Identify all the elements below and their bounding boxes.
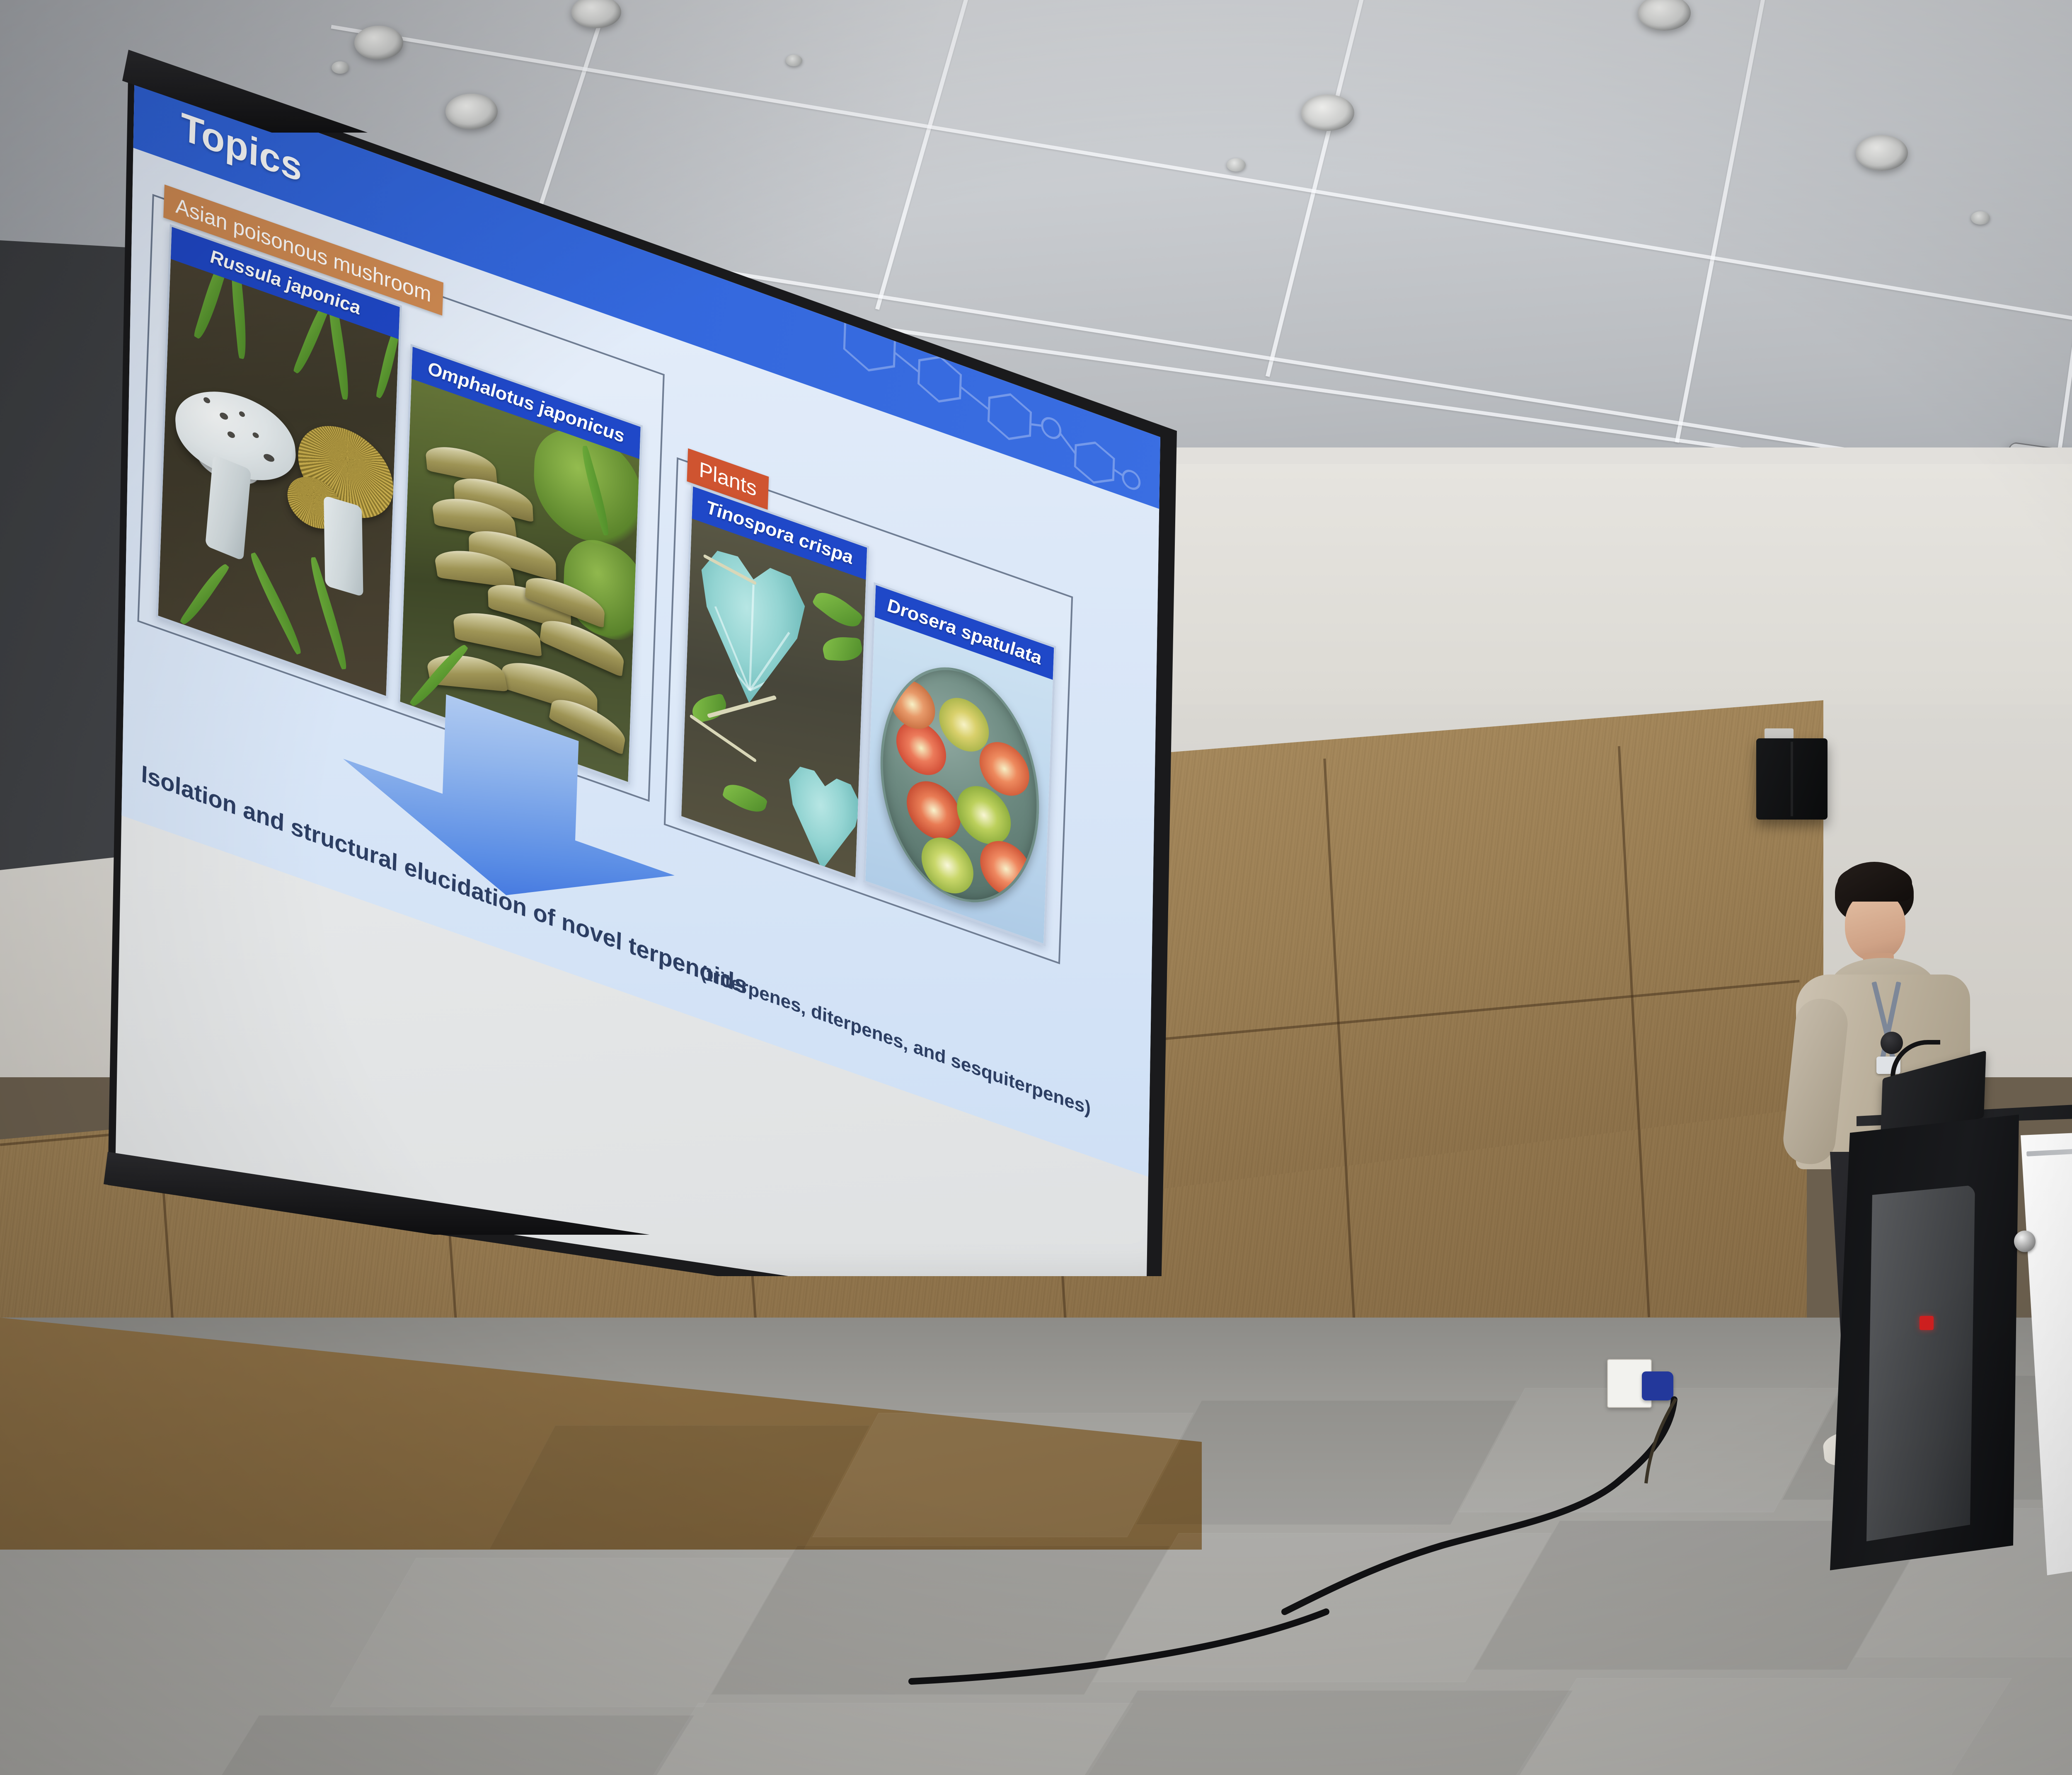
sundew-rosette (921, 830, 974, 901)
photo-card-tinospora: Tinospora crispa (679, 484, 869, 880)
presenter-hair-fringe (1837, 864, 1912, 902)
presenter-face (1845, 892, 1905, 961)
sprinkler-head (1227, 158, 1246, 172)
leaf-vein (714, 606, 751, 690)
microphone-head (1881, 1032, 1903, 1054)
plant-stem (690, 714, 757, 762)
floor-cable (1285, 1380, 1699, 1637)
floor-cable-left (912, 1525, 1326, 1699)
podium-status-led[interactable] (1920, 1316, 1934, 1330)
photo-card-russula: Russula japonica (156, 224, 402, 699)
molecule-watermark-icon (792, 291, 1169, 520)
speaker-bracket (1765, 728, 1794, 739)
floor-tile (155, 1715, 694, 1775)
mushroom-stem (205, 455, 251, 561)
heart-shaped-leaf (695, 540, 808, 722)
leaf-vein (749, 632, 790, 692)
ceiling-downlight (1856, 135, 1908, 171)
green-leaf (812, 584, 863, 636)
projector-screen: Topics Asian poisonous mushroom Plants R… (83, 50, 1177, 1276)
green-leaf (820, 636, 865, 662)
photo-card-drosera: Drosera spatulata (863, 582, 1056, 946)
floor-tile (812, 1413, 1193, 1537)
green-leaf (722, 777, 768, 820)
sundew-rosette (906, 774, 962, 847)
sprinkler-head (1971, 211, 1990, 225)
sundew-rosette (938, 691, 990, 759)
grass-blade (179, 560, 230, 629)
petri-dish (876, 643, 1043, 927)
sundew-rosette (979, 834, 1033, 904)
ceiling-downlight (1301, 94, 1354, 131)
screen-roller-top (120, 50, 1181, 133)
projected-slide-host: Topics Asian poisonous mushroom Plants R… (83, 50, 1177, 1276)
floor-tile (489, 1425, 870, 1550)
leaf-vein (749, 584, 755, 691)
podium-assembly: e STATION (1782, 1036, 2072, 1574)
projected-slide: Topics Asian poisonous mushroom Plants R… (107, 66, 1193, 1183)
podium-front-panel (1855, 1185, 1975, 1541)
presentation-room-photo: Topics Asian poisonous mushroom Plants R… (0, 0, 2072, 1775)
wall-mounted-speaker (1756, 738, 1828, 820)
mushroom-stem (324, 495, 363, 597)
slide-caption-sub: (triterpenes, diterpenes, and sesquiterp… (700, 961, 1091, 1120)
grass-blade (246, 552, 306, 655)
floor-tile (595, 1703, 1133, 1775)
shelf-fungus (424, 442, 497, 485)
leaf-vein (703, 632, 750, 691)
podium-knob (2014, 1231, 2036, 1252)
